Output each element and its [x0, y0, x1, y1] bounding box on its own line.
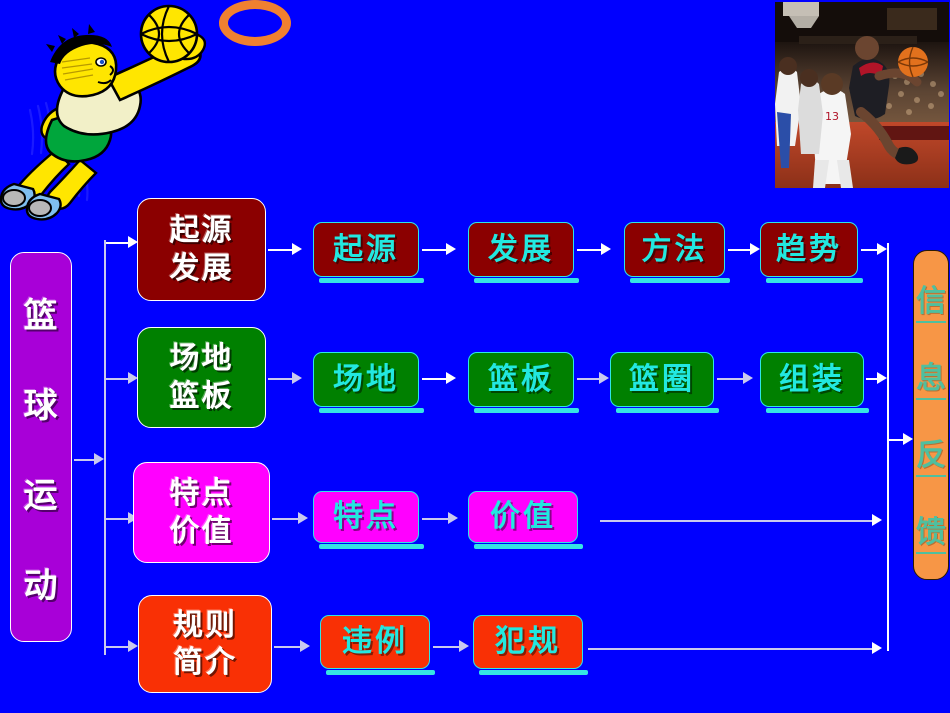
step-origin-0[interactable]: 起源 — [313, 222, 419, 277]
court-step0-to-step1-line — [422, 378, 448, 380]
root-to-trunk-line — [74, 459, 96, 461]
trunk-to-feedback-arrow — [903, 433, 913, 445]
feature-step1-to-trunk-line — [600, 520, 876, 522]
svg-text:13: 13 — [825, 110, 839, 123]
row-feature-branch-line — [106, 518, 130, 520]
step-feature-0[interactable]: 特点 — [313, 491, 419, 543]
root-char-1: 球 — [24, 378, 59, 427]
category-feature-line-1: 价值 — [170, 516, 234, 548]
category-court-backboard[interactable]: 场地 篮板 — [137, 327, 266, 428]
root-node-basketball-sport[interactable]: 篮 球 运 动 — [10, 252, 72, 642]
step-rules-1[interactable]: 犯规 — [473, 615, 583, 669]
feature-step0-to-step1-arrow — [448, 512, 458, 524]
step-origin-2[interactable]: 方法 — [624, 222, 725, 277]
photo-svg: 13 — [775, 2, 949, 188]
origin-step0-to-step1-line — [422, 249, 448, 251]
step-court-0[interactable]: 场地 — [313, 352, 419, 407]
left-trunk-line — [104, 240, 106, 655]
feature-step1-to-trunk-arrow — [872, 514, 882, 526]
rules-step1-to-trunk-line — [588, 648, 876, 650]
court-step2-to-step3-line — [717, 378, 745, 380]
feedback-node-information-feedback[interactable]: 信 息 反 馈 — [913, 250, 949, 580]
row-origin-branch-line — [106, 242, 130, 244]
court-step1-to-step2-arrow — [599, 372, 609, 384]
root-char-2: 运 — [24, 468, 59, 517]
feedback-char-0: 信 — [916, 276, 946, 323]
court-step0-to-step1-arrow — [446, 372, 456, 384]
step-court-2[interactable]: 篮圈 — [610, 352, 714, 407]
feature-cat-to-step0-arrow — [298, 512, 308, 524]
origin-step2-to-step3-line — [728, 249, 752, 251]
root-to-trunk-arrow — [94, 453, 104, 465]
court-cat-to-step0-arrow — [292, 372, 302, 384]
origin-cat-to-step0-line — [268, 249, 294, 251]
nba-game-photo: 13 — [773, 0, 950, 190]
feedback-char-2: 反 — [916, 430, 946, 477]
category-court-line-0: 场地 — [170, 343, 234, 375]
court-cat-to-step0-line — [268, 378, 294, 380]
row-rules-branch-line — [106, 646, 130, 648]
category-rules-line-1: 简介 — [173, 647, 237, 679]
feature-step0-to-step1-line — [422, 518, 450, 520]
feature-cat-to-step0-line — [272, 518, 300, 520]
step-origin-3[interactable]: 趋势 — [760, 222, 858, 277]
right-trunk-line — [887, 243, 889, 651]
category-feature-value[interactable]: 特点 价值 — [133, 462, 270, 563]
rules-step1-to-trunk-arrow — [872, 642, 882, 654]
category-origin-development[interactable]: 起源 发展 — [137, 198, 266, 301]
basketball-hoop-icon — [219, 0, 291, 46]
feedback-char-1: 息 — [916, 353, 946, 400]
category-rules-intro[interactable]: 规则 简介 — [138, 595, 272, 693]
root-char-3: 动 — [24, 558, 59, 607]
origin-step1-to-step2-line — [577, 249, 603, 251]
rules-cat-to-step0-arrow — [300, 640, 310, 652]
origin-step2-to-step3-arrow — [750, 243, 760, 255]
origin-step0-to-step1-arrow — [446, 243, 456, 255]
row-rules-branch-arrow — [128, 640, 138, 652]
step-rules-0[interactable]: 违例 — [320, 615, 430, 669]
root-char-0: 篮 — [24, 288, 59, 337]
category-origin-line-1: 发展 — [170, 253, 234, 285]
step-court-1[interactable]: 篮板 — [468, 352, 574, 407]
court-step3-to-trunk-arrow — [877, 372, 887, 384]
row-court-branch-line — [106, 378, 130, 380]
court-step2-to-step3-arrow — [743, 372, 753, 384]
rules-step0-to-step1-line — [433, 646, 461, 648]
slide-canvas: 13 篮 球 运 动 信 息 反 — [0, 0, 950, 713]
step-origin-1[interactable]: 发展 — [468, 222, 574, 277]
court-step1-to-step2-line — [577, 378, 601, 380]
category-origin-line-0: 起源 — [170, 215, 234, 247]
rules-cat-to-step0-line — [274, 646, 302, 648]
step-feature-1[interactable]: 价值 — [468, 491, 578, 543]
category-rules-line-0: 规则 — [173, 610, 237, 642]
origin-step1-to-step2-arrow — [601, 243, 611, 255]
origin-step3-to-trunk-arrow — [877, 243, 887, 255]
category-court-line-1: 篮板 — [170, 381, 234, 413]
rules-step0-to-step1-arrow — [459, 640, 469, 652]
origin-cat-to-step0-arrow — [292, 243, 302, 255]
feedback-char-3: 馈 — [916, 507, 946, 554]
category-feature-line-0: 特点 — [170, 478, 234, 510]
step-court-3[interactable]: 组装 — [760, 352, 864, 407]
